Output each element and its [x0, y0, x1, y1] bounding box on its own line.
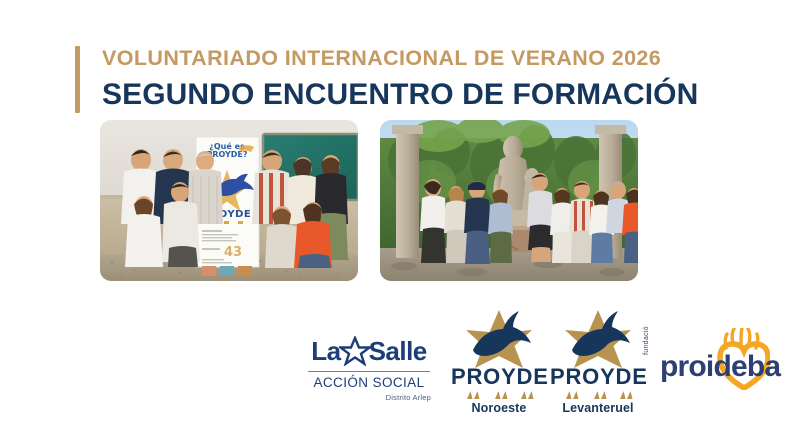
- photo-left-image: ¿Qué es PROYDE? PROYDE 43: [100, 120, 358, 281]
- proyde-wordmark: PROYDE: [550, 366, 646, 388]
- star-points-icon: [451, 389, 547, 400]
- logo-lasalle: La Salle ACCIÓN SOCIAL Distrito Arlep: [305, 336, 433, 402]
- accent-bar: [75, 46, 80, 113]
- photo-right: [380, 120, 638, 281]
- logo-row: La Salle ACCIÓN SOCIAL Distrito Arlep PR…: [305, 308, 760, 420]
- lasalle-district: Distrito Arlep: [305, 393, 433, 402]
- logo-proyde-noroeste: PROYDE Noroeste: [451, 308, 547, 415]
- proideba-prefix: fundació: [643, 326, 650, 355]
- proyde-region: Noroeste: [451, 402, 547, 415]
- star-icon: [339, 336, 371, 366]
- lasalle-wordmark: La Salle: [305, 336, 433, 366]
- photo-left: ¿Qué es PROYDE? PROYDE 43: [100, 120, 358, 281]
- heading-block: VOLUNTARIADO INTERNACIONAL DE VERANO 202…: [75, 46, 698, 113]
- logo-proideba: fundació proideba: [650, 334, 762, 406]
- eyebrow-title: VOLUNTARIADO INTERNACIONAL DE VERANO 202…: [102, 46, 698, 71]
- lasalle-divider: [308, 371, 430, 372]
- svg-text:43: 43: [224, 245, 242, 260]
- lasalle-word-salle: Salle: [369, 338, 427, 364]
- dove-icon: [451, 308, 547, 370]
- star-points-icon: [550, 389, 646, 400]
- lasalle-word-la: La: [311, 338, 340, 364]
- proyde-region: Levanteruel: [550, 402, 646, 415]
- photo-right-image: [380, 120, 638, 281]
- heading-text: VOLUNTARIADO INTERNACIONAL DE VERANO 202…: [102, 46, 698, 113]
- logo-proyde-levanteruel: PROYDE Levanteruel: [550, 308, 646, 415]
- page-title: SEGUNDO ENCUENTRO DE FORMACIÓN: [102, 77, 698, 113]
- proideba-wordmark: proideba: [660, 352, 780, 382]
- dove-icon: [550, 308, 646, 370]
- proyde-wordmark: PROYDE: [451, 366, 547, 388]
- lasalle-subtitle: ACCIÓN SOCIAL: [305, 376, 433, 391]
